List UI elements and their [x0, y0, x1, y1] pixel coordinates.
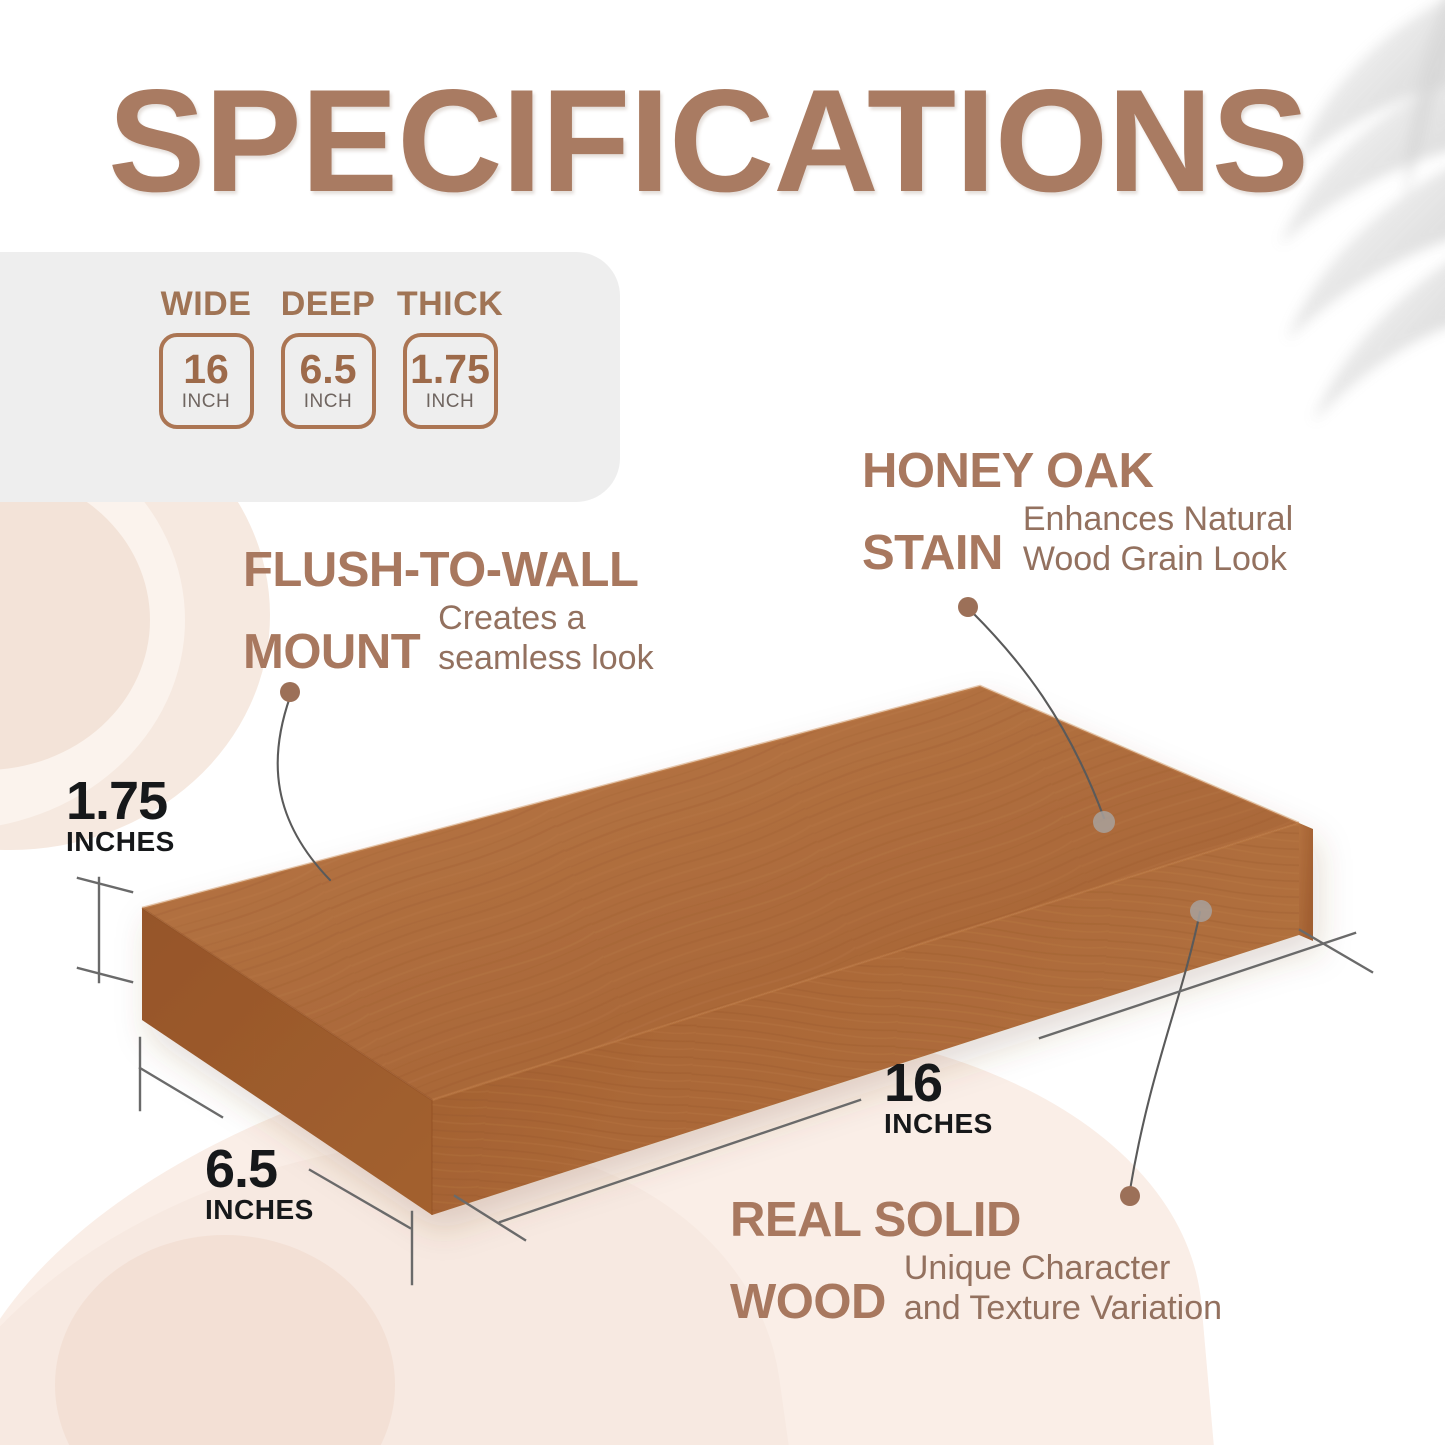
dimension-unit: INCHES: [884, 1109, 993, 1139]
callout-heading-line1: REAL SOLID: [730, 1193, 1370, 1248]
callout-sub-line2: seamless look: [438, 638, 653, 678]
callout-real-solid-wood: REAL SOLID WOOD Unique Character and Tex…: [730, 1193, 1370, 1330]
dimension-value: 16: [884, 1057, 993, 1109]
dimension-value: 6.5: [205, 1143, 314, 1195]
dimension-label-depth: 6.5 INCHES: [205, 1143, 314, 1225]
callout-heading-line1: FLUSH-TO-WALL: [243, 543, 763, 598]
callout-honey-oak-stain: HONEY OAK STAIN Enhances Natural Wood Gr…: [862, 444, 1402, 581]
callout-sub-line2: Wood Grain Look: [1023, 539, 1293, 579]
callout-heading-line2: STAIN: [862, 526, 1003, 581]
dimension-label-thickness: 1.75 INCHES: [66, 775, 175, 857]
dimension-label-width: 16 INCHES: [884, 1057, 993, 1139]
dimension-value: 1.75: [66, 775, 175, 827]
callout-sub-line1: Enhances Natural: [1023, 499, 1293, 539]
callout-flush-to-wall-mount: FLUSH-TO-WALL MOUNT Creates a seamless l…: [243, 543, 763, 680]
infographic-canvas: SPECIFICATIONS WIDE 16 INCH DEEP 6.5 INC…: [0, 0, 1445, 1445]
dimension-line-thickness: [78, 878, 132, 982]
callout-heading-line2: WOOD: [730, 1275, 886, 1330]
callout-heading-line1: HONEY OAK: [862, 444, 1402, 499]
callout-sub-line1: Creates a: [438, 598, 653, 638]
callout-sub-line1: Unique Character: [904, 1248, 1222, 1288]
dimension-unit: INCHES: [66, 827, 175, 857]
callout-heading-line2: MOUNT: [243, 625, 420, 680]
callout-sub-line2: and Texture Variation: [904, 1288, 1222, 1328]
dimension-unit: INCHES: [205, 1195, 314, 1225]
